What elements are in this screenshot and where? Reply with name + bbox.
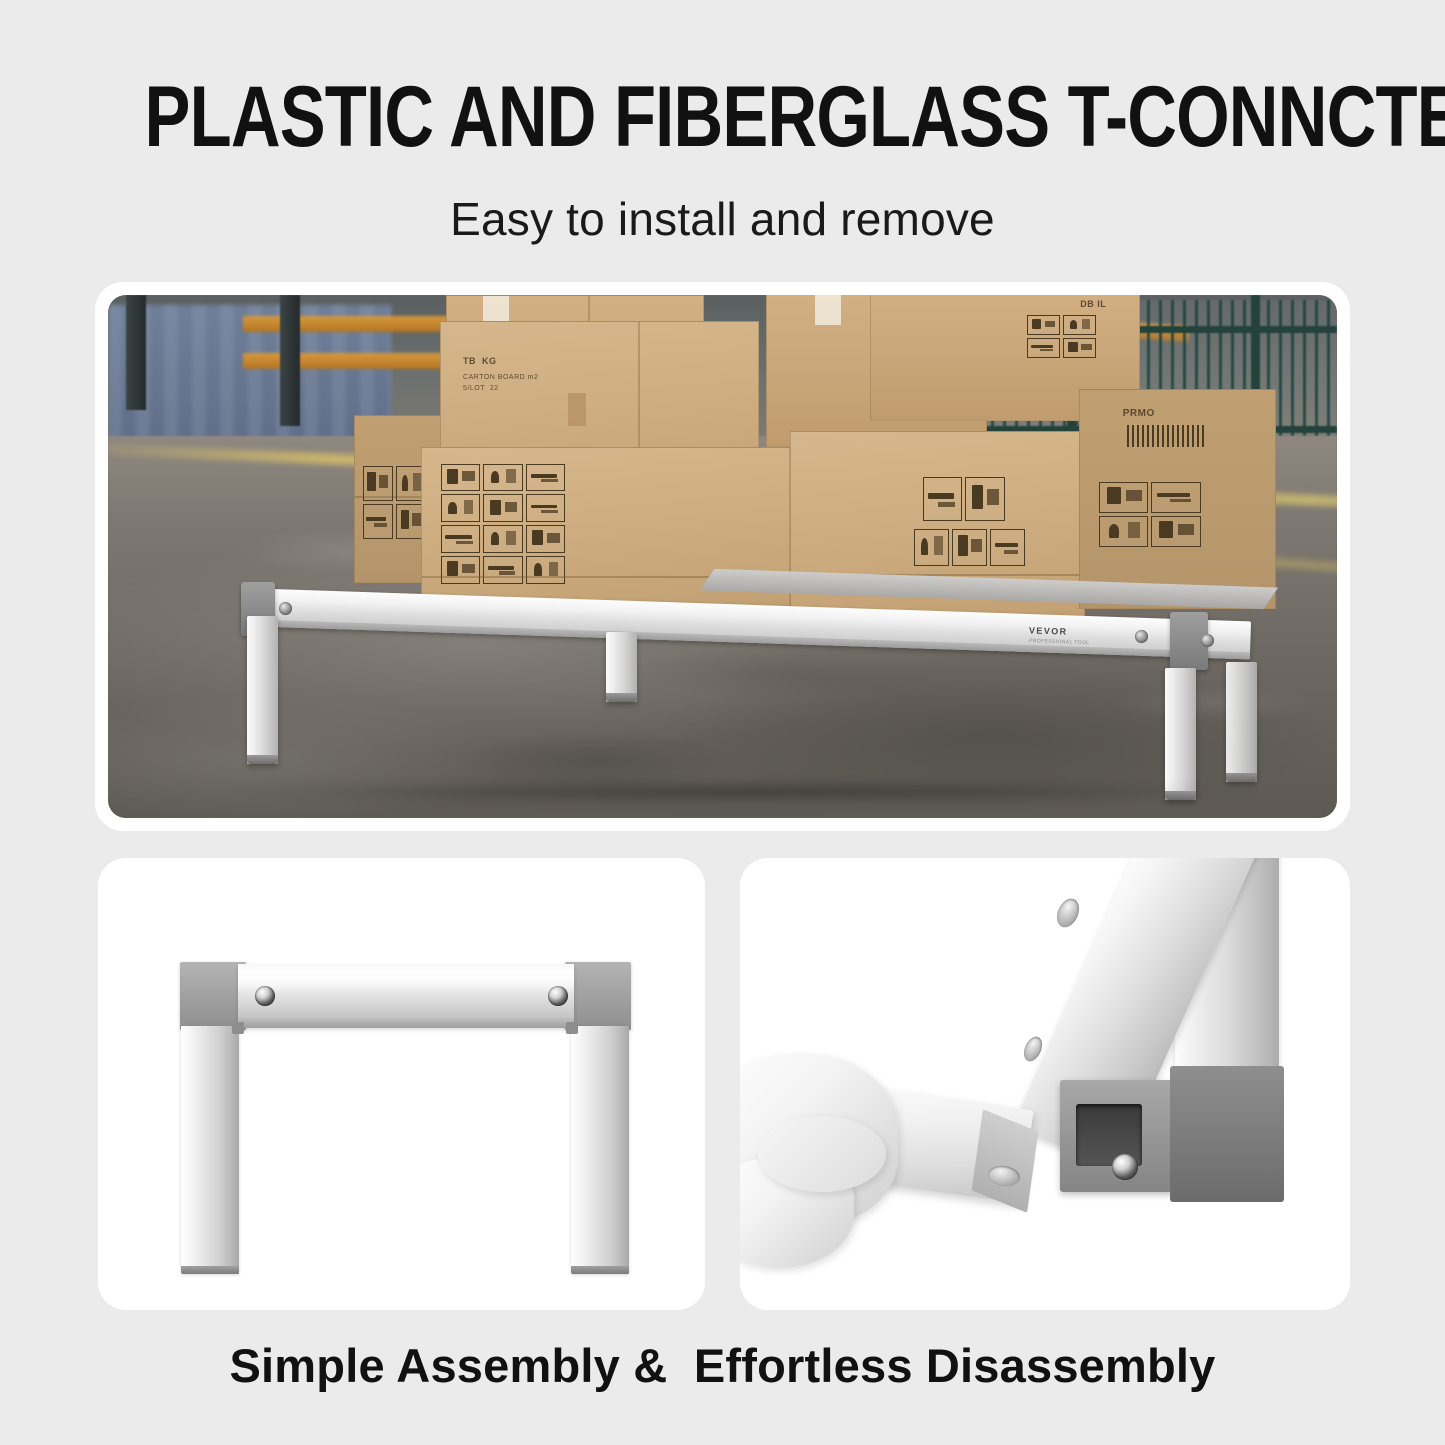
rack-leg: [606, 632, 637, 702]
rack-leg: [1165, 668, 1196, 800]
shipping-symbol-icon: [483, 494, 523, 522]
page-title: PLASTIC AND FIBERGLASS T-CONNCTER: [145, 74, 1301, 160]
background-pillar: [280, 295, 300, 426]
t-connector-cap-left: [180, 962, 246, 1030]
shipping-symbol-icon: [1151, 516, 1200, 547]
t-connector-vertical-sleeve: [1170, 1066, 1284, 1202]
barcode-icon: [1127, 425, 1205, 447]
shipping-symbol-icon: [990, 529, 1025, 566]
dunnage-rack-in-warehouse-photo: TB KG CARTON BOARD m2 5/LOT 22: [108, 295, 1337, 818]
header: PLASTIC AND FIBERGLASS T-CONNCTER Easy t…: [0, 0, 1445, 246]
shipping-symbol-icon: [1151, 482, 1200, 513]
background-pillar: [126, 295, 146, 410]
brand-logo: VEVOR: [1029, 625, 1068, 636]
gloved-hand-connector-fit: [740, 858, 1350, 1310]
u-frame-assembly-card: [98, 858, 705, 1310]
dunnage-rack: VEVOR PROFESSIONAL TOOL: [243, 588, 1251, 797]
shipping-symbol-icon: [441, 494, 481, 522]
shipping-symbol-icon: [526, 464, 566, 492]
shipping-symbol-icon: [526, 525, 566, 553]
shipping-symbol-icon: [1027, 315, 1060, 335]
shipping-symbol-icon: [1099, 516, 1148, 547]
shipping-symbol-icon: [965, 477, 1005, 522]
frame-upright-right: [571, 1026, 629, 1274]
rack-bolt: [279, 602, 292, 615]
shipping-symbol-icon: [441, 525, 481, 553]
shipping-symbols-grid: [441, 464, 566, 584]
gloved-finger: [758, 1116, 886, 1192]
frame-crossbar: [238, 964, 574, 1028]
gloved-hand-connector-card: [740, 858, 1350, 1310]
t-connector-cap-right: [565, 962, 631, 1030]
shipping-symbol-icon: [526, 494, 566, 522]
rack-bolt: [1135, 630, 1148, 643]
shipping-symbol-icon: [483, 525, 523, 553]
shipping-symbol-icon: [483, 464, 523, 492]
shipping-symbol-icon: [1099, 482, 1148, 513]
t-connector-bolt-hole: [1112, 1154, 1138, 1180]
footer-caption: Simple Assembly & Effortless Disassembly: [0, 1338, 1445, 1393]
hero-image-card: TB KG CARTON BOARD m2 5/LOT 22: [95, 282, 1350, 831]
u-frame-assembly: [98, 858, 705, 1310]
crossbar-bolt-hole: [255, 986, 275, 1006]
beam-bolt-hole: [1053, 895, 1083, 931]
rack-bolt: [1201, 634, 1214, 647]
shipping-symbol-icon: [923, 477, 963, 522]
shipping-symbol-icon: [363, 504, 393, 539]
shipping-symbol-icon: [1063, 338, 1096, 358]
shipping-symbol-icon: [1027, 338, 1060, 358]
rack-leg: [247, 616, 278, 764]
shipping-symbol-icon: [526, 556, 566, 584]
rack-shadow: [231, 781, 1263, 803]
carton-code-label: PRMO: [1123, 408, 1155, 421]
rack-leg: [1226, 662, 1257, 782]
shipping-symbol-icon: [441, 464, 481, 492]
page-subtitle: Easy to install and remove: [0, 192, 1445, 246]
shipping-symbol-icon: [1063, 315, 1096, 335]
carton-box: PRMO: [1079, 389, 1276, 609]
joint-notch: [232, 1022, 244, 1034]
crossbar-bolt-hole: [548, 986, 568, 1006]
shipping-symbol-icon: [952, 529, 987, 566]
shipping-symbol-icon: [441, 556, 481, 584]
shipping-symbol-icon: [363, 466, 393, 501]
frame-upright-left: [181, 1026, 239, 1274]
shipping-symbol-icon: [914, 529, 949, 566]
shipping-symbol-icon: [483, 556, 523, 584]
joint-notch: [566, 1022, 578, 1034]
